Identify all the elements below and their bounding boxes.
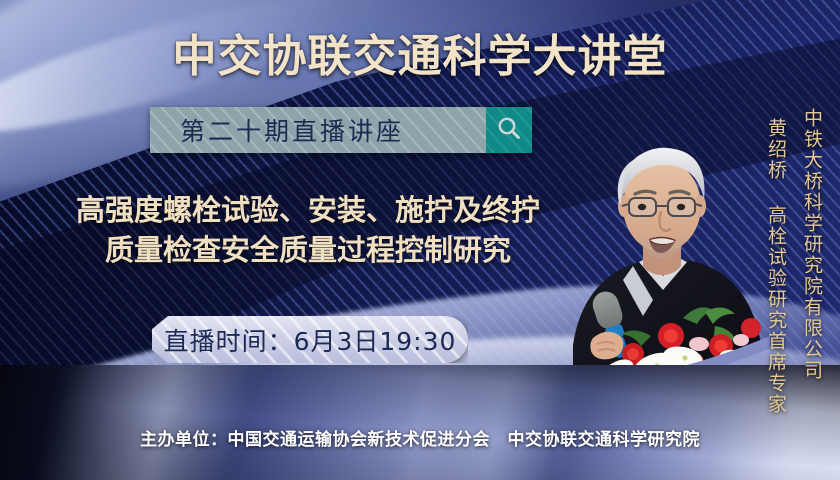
search-input-value: 第二十期直播讲座 bbox=[150, 112, 404, 148]
subtitle-line-1: 高强度螺栓试验、安装、施拧及终拧 bbox=[76, 193, 540, 227]
broadcast-time-badge: 直播时间：6月3日19:30 bbox=[152, 316, 468, 363]
organizer-footer: 主办单位：中国交通运输协会新技术促进分会 中交协联交通科学研究院 bbox=[0, 425, 840, 450]
search-input[interactable]: 第二十期直播讲座 bbox=[150, 107, 486, 153]
search-button[interactable] bbox=[486, 107, 532, 153]
main-title-text: 中交协联交通科学大讲堂 bbox=[173, 31, 668, 82]
broadcast-time-text: 直播时间：6月3日19:30 bbox=[164, 322, 457, 358]
lecture-subtitle: 高强度螺栓试验、安装、施拧及终拧 质量检查安全质量过程控制研究 bbox=[8, 190, 608, 270]
page-title: 中交协联交通科学大讲堂 bbox=[0, 20, 840, 84]
lecture-poster: 中交协联交通科学大讲堂 第二十期直播讲座 高强度螺栓试验、安装、施拧及终拧 质量… bbox=[0, 0, 840, 480]
search-icon bbox=[496, 115, 522, 146]
speaker-name-title: 黄绍桥 高栓试验研究首席专家 bbox=[763, 118, 790, 415]
episode-search-bar[interactable]: 第二十期直播讲座 bbox=[150, 107, 532, 153]
speaker-organization: 中铁大桥科学研究院有限公司 bbox=[799, 108, 826, 381]
subtitle-line-2: 质量检查安全质量过程控制研究 bbox=[8, 230, 608, 270]
footer-silk-band bbox=[0, 365, 840, 480]
